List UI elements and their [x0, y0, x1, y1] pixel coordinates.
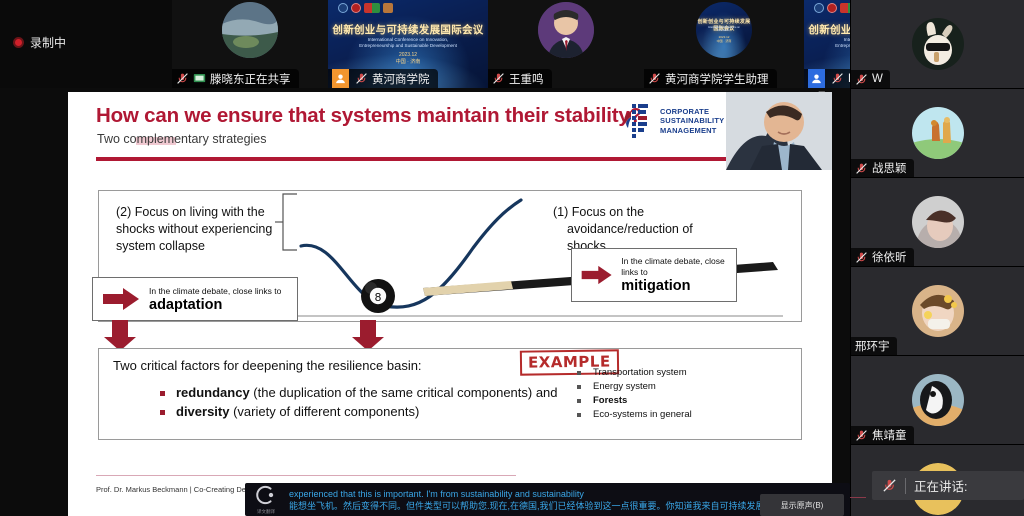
mic-muted-icon [355, 72, 368, 85]
avatar [222, 2, 278, 58]
participant-name: 战思颖 [872, 160, 907, 176]
cc-icon-label: 译文翻译 [253, 509, 279, 515]
shared-screen-slide: How can we ensure that systems maintain … [68, 92, 832, 516]
title-divider [96, 157, 832, 161]
recording-badge[interactable]: 录制中 [13, 34, 66, 51]
avatar [912, 107, 964, 159]
participant-name-bar: 滕晓东正在共享 [172, 69, 299, 88]
participant-name-bar: W [851, 70, 890, 88]
participant-name: 滕晓东正在共享 [210, 71, 291, 87]
avatar [912, 285, 964, 337]
poster-date-location: 2023.12 中国 · 济南 [328, 52, 488, 66]
slide-footer: Prof. Dr. Markus Beckmann | Co-Creating … [96, 485, 262, 494]
poster-title-cn: 创新创业与可持续发展国际会议 [328, 22, 488, 37]
participant-name: 徐依昕 [872, 249, 907, 265]
avatar [912, 196, 964, 248]
csm-mark-icon [620, 102, 654, 140]
video-tile-participant[interactable]: 创新创业与可持续发展国际会议 International Conference … [328, 0, 488, 88]
ball-number: 8 [375, 291, 382, 304]
participant-tile[interactable]: 焦靖童 [851, 356, 1024, 445]
callout-keyword: mitigation [621, 278, 726, 294]
critical-factors-list: redundancy (the duplication of the same … [158, 384, 558, 421]
arrow-right-icon [580, 260, 613, 290]
closed-caption-icon[interactable]: 译文翻译 [253, 485, 279, 515]
participant-name: W [872, 73, 883, 85]
list-item: redundancy (the duplication of the same … [158, 384, 558, 402]
participant-name-bar: 徐依昕 [851, 248, 914, 266]
examples-list: Transportation system Energy system Fore… [573, 366, 692, 422]
video-tile-participant[interactable]: 王重鸣 [488, 0, 644, 88]
list-item: Eco-systems in general [573, 408, 692, 422]
csm-logo-text: CORPORATE SUSTAINABILITY MANAGEMENT [660, 107, 724, 136]
participant-tile[interactable]: 战思颖 [851, 89, 1024, 178]
record-dot-icon [13, 37, 24, 48]
participant-tile[interactable]: W [851, 0, 1024, 89]
participant-tile[interactable]: 邢环宇 [851, 267, 1024, 356]
participants-rail: ncsw W [850, 0, 1024, 516]
poster-title-en: International Conference on Innovation, … [334, 37, 482, 49]
participant-name: 黄河商学院 [372, 71, 430, 87]
page-subtitle: Two complementary strategies [97, 132, 267, 146]
presenter-video-overlay[interactable] [726, 92, 832, 170]
participant-name: 邢环宇 [855, 338, 890, 354]
mic-muted-icon [855, 73, 868, 86]
mic-muted-icon [492, 72, 505, 85]
callout-lead-text: In the climate debate, close links to [621, 256, 726, 278]
footer-divider [96, 475, 516, 476]
mic-muted-icon [648, 72, 661, 85]
participant-name-bar: 焦靖童 [851, 426, 914, 444]
host-icon [808, 69, 825, 88]
toast-divider [905, 478, 906, 494]
video-tile-participant[interactable]: 滕晓东正在共享 [172, 0, 328, 88]
mic-muted-icon [855, 162, 868, 175]
participant-name-bar: 王重鸣 [488, 69, 552, 88]
mic-muted-icon [855, 251, 868, 264]
callout-mitigation: In the climate debate, close links to mi… [571, 248, 737, 302]
corporate-sustainability-management-logo: CORPORATE SUSTAINABILITY MANAGEMENT [620, 102, 724, 140]
host-icon [332, 69, 349, 88]
list-item: Transportation system [573, 366, 692, 380]
video-filmstrip: 录制中 [0, 0, 850, 88]
avatar: 创新创业与可持续发展国际会议 International Conference … [696, 2, 752, 58]
speaking-toast: 正在讲话: [872, 471, 1024, 500]
participant-name-bar: 黄河商学院学生助理 [644, 69, 777, 88]
callout-keyword: adaptation [149, 297, 281, 313]
show-original-audio-button[interactable]: 显示原声(B) [760, 494, 844, 516]
avatar [538, 2, 594, 58]
recording-label: 录制中 [30, 34, 66, 51]
participant-name: 王重鸣 [509, 71, 544, 87]
participant-name-bar: 黄河商学院 [328, 69, 438, 88]
zoom-meeting-window: 录制中 [0, 0, 1024, 516]
participant-tile[interactable]: 徐依昕 [851, 178, 1024, 267]
participant-name: 焦靖童 [872, 427, 907, 443]
participant-name-bar: 战思颖 [851, 159, 914, 177]
mic-muted-icon [176, 72, 189, 85]
mic-muted-icon [855, 429, 868, 442]
strategy-2-text: (2) Focus on living with the shocks with… [116, 204, 291, 255]
poster-logo-icons [338, 3, 393, 13]
participant-name: 黄河商学院学生助理 [665, 71, 769, 87]
participant-name-bar: 邢环宇 [851, 337, 897, 355]
list-item: Forests [573, 394, 692, 408]
screen-share-icon [193, 73, 206, 84]
mic-muted-icon [831, 72, 844, 85]
list-item: Energy system [573, 380, 692, 394]
video-tile-participant[interactable]: 创新创业与可持续发展国际会议 International Conference … [644, 0, 804, 88]
arrow-right-icon [101, 286, 141, 312]
recording-indicator-cell: 录制中 [0, 0, 172, 88]
speaking-label: 正在讲话: [914, 476, 967, 495]
critical-factors-heading: Two critical factors for deepening the r… [113, 358, 422, 373]
callout-lead-text: In the climate debate, close links to [149, 286, 281, 297]
factor-term: diversity [176, 404, 229, 419]
page-title: How can we ensure that systems maintain … [96, 104, 642, 128]
list-item: diversity (variety of different componen… [158, 403, 558, 421]
callout-adaptation: In the climate debate, close links to ad… [92, 277, 298, 321]
mic-muted-icon [882, 478, 897, 493]
avatar [912, 18, 964, 70]
avatar [912, 374, 964, 426]
factor-term: redundancy [176, 385, 250, 400]
